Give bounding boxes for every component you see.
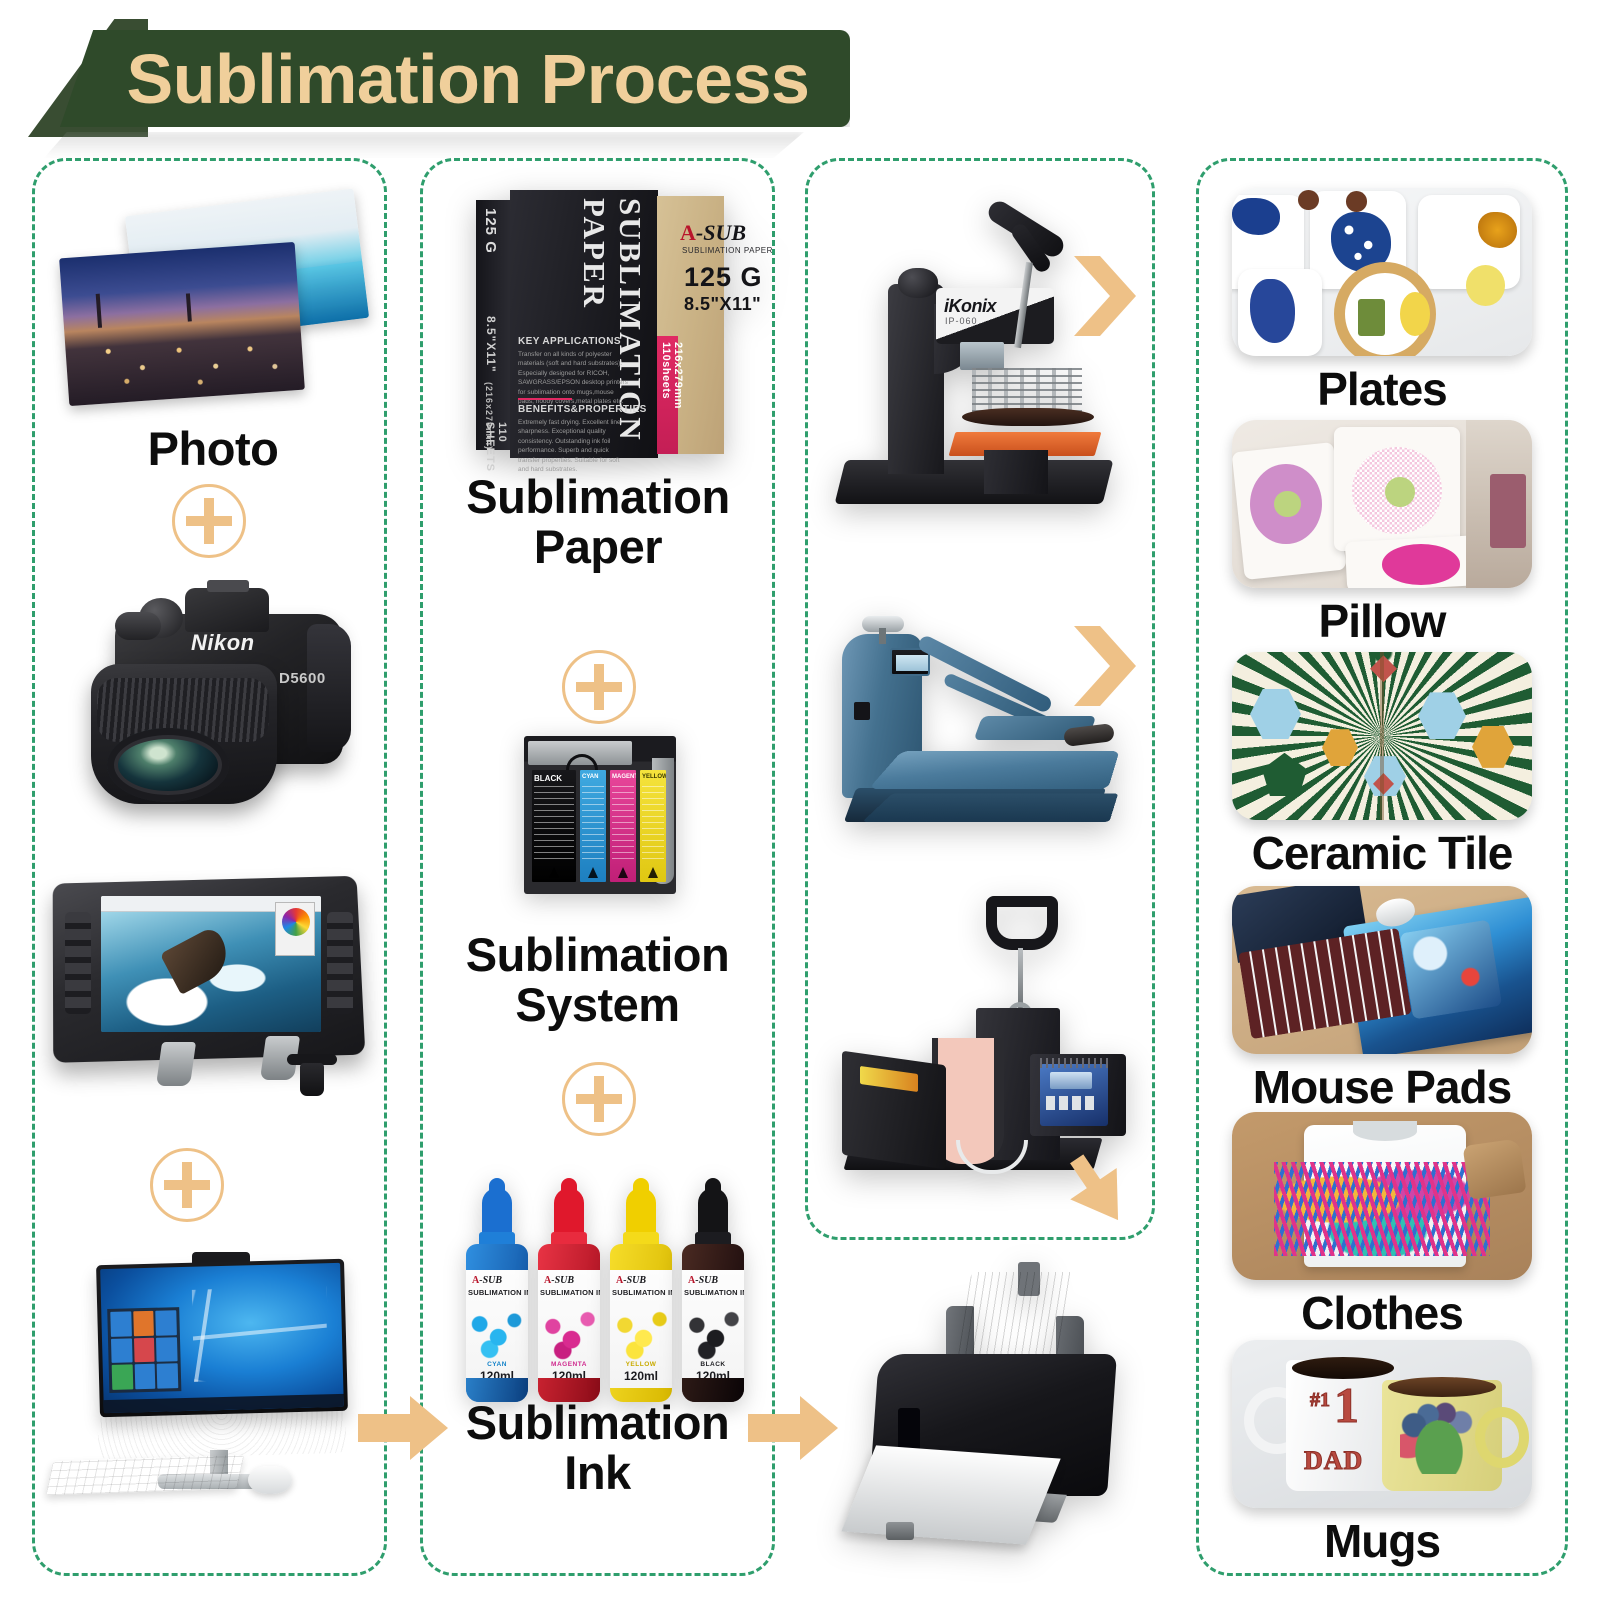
plus-icon-supplies-1 [562,650,636,724]
cartridge-magenta: MAGENTA [610,770,636,882]
paper-section2-body: Extremely fast drying. Excellent line sh… [518,418,628,475]
item-sublimation-system: BLACK CYAN MAGENTA YELLOW [520,736,680,894]
item-mug-press [834,890,1134,1186]
paper-spine-weight: 125 G [482,208,499,254]
ink-bottle-yellow: A-SUB SUBLIMATION INK YELLOW 120ml [610,1188,672,1402]
plus-icon-source-1 [172,484,246,558]
item-printer [840,1270,1140,1570]
plus-icon-supplies-2 [562,1062,636,1136]
ink-bottle-magenta: A-SUB SUBLIMATION INK MAGENTA 120ml [538,1188,600,1402]
product-plates: Plates [1208,188,1556,416]
product-mugs: #1 1 DAD Mugs [1208,1340,1556,1568]
arrow-supplies-to-printer [748,1396,838,1460]
caption-sublimation-paper: Sublimation Paper [448,472,748,572]
paper-spine-size: 8.5"X11" [484,316,498,373]
item-pen-display [44,872,374,1097]
paper-weight: 125 G [684,262,763,293]
banner-drop-shadow [44,132,804,158]
mug-dad-label: DAD [1304,1448,1363,1474]
cartridge-magenta-label: MAGENTA [612,774,636,780]
ink-magenta-color-label: MAGENTA [538,1361,600,1368]
clothes-photo [1232,1112,1532,1280]
item-photo: Photo [48,198,378,473]
product-clothes: Clothes [1208,1112,1556,1340]
ink-yellow-color-label: YELLOW [610,1361,672,1368]
product-ceramic-tile: Ceramic Tile [1208,652,1556,880]
caption-paper-line1: Sublimation [448,472,748,522]
camera-model-label: D5600 [279,670,326,687]
caption-ink-line1: Sublimation [440,1398,755,1448]
caption-plates: Plates [1317,362,1447,416]
cartridge-black: BLACK [532,770,576,882]
mug-hash-label: #1 [1310,1390,1330,1410]
paper-size: 8.5"X11" [684,294,761,315]
arrow-press-to-printer [1066,1148,1142,1222]
caption-clothes: Clothes [1301,1286,1463,1340]
pen-display-tablet-icon [51,872,367,1097]
cartridge-yellow-label: YELLOW [642,774,666,780]
paper-metric-sheets: 216x279mm 110sheets [660,342,684,458]
ink-cyan-color-label: CYAN [466,1361,528,1368]
caption-system-line1: Sublimation [440,930,755,980]
title-banner: Sublimation Process [0,14,900,139]
caption-pillow: Pillow [1319,594,1446,648]
arrow-source-to-supplies [358,1396,448,1460]
paper-spine-sheets: 110 SHEETS [484,422,508,472]
ink-black-color-label: BLACK [682,1361,744,1368]
item-camera: Nikon D5600 [56,578,366,813]
plates-photo [1232,188,1532,356]
stylus-stand-icon [287,1054,337,1096]
keyboard-icon [46,1455,245,1496]
product-mouse-pads: Mouse Pads [1208,886,1556,1114]
cartridge-black-label: BLACK [534,774,562,783]
caption-system-line2: System [440,980,755,1030]
mouse-icon [248,1466,292,1494]
mugs-photo: #1 1 DAD [1232,1340,1532,1508]
item-sublimation-paper: 125 G 8.5"X11" (216x279mm) 110 SHEETS SU… [452,186,744,572]
mug-number-one: 1 [1334,1380,1359,1430]
caption-ink-line2: Ink [440,1448,755,1498]
cartridge-cyan-label: CYAN [582,774,598,780]
caption-sublimation-system: Sublimation System [440,930,755,1030]
chevron-right-icon-press-1 [1074,256,1136,336]
paper-section1-head: KEY APPLICATIONS [518,336,621,347]
inkjet-printer-icon [840,1270,1140,1570]
photo-prints-icon [56,198,371,413]
item-computer [50,1244,370,1494]
plus-icon-source-2 [150,1148,224,1222]
caption-ceramic-tile: Ceramic Tile [1252,826,1513,880]
ink-bottle-black: A-SUB SUBLIMATION INK BLACK 120ml [682,1188,744,1402]
ink-cartridges-icon: BLACK CYAN MAGENTA YELLOW [524,736,676,894]
ink-bottles-icon: A-SUB SUBLIMATION INK CYAN 120ml A-SUB S… [460,1172,760,1402]
mug-heat-press-icon [834,890,1134,1186]
chevron-right-icon-press-2 [1074,626,1136,706]
cartridge-yellow: YELLOW [640,770,666,882]
caption-paper-line2: Paper [448,522,748,572]
caption-mugs: Mugs [1324,1514,1440,1568]
press-brand-label: iKonix [944,296,996,317]
paper-brand-logo: A-SUB [680,220,746,246]
caption-sublimation-ink: Sublimation Ink [440,1398,755,1498]
caption-photo: Photo [148,425,279,473]
all-in-one-pc-icon [50,1244,370,1494]
cityscape-print [59,242,305,406]
paper-brand-subtitle: SUBLIMATION PAPER [682,246,773,255]
cartridge-cyan: CYAN [580,770,606,882]
banner-plate: Sublimation Process [60,30,850,127]
press-model-label: IP-060 [945,316,978,326]
ceramic-tile-photo [1232,652,1532,820]
mouse-pad-photo [1232,886,1532,1054]
caption-mouse-pads: Mouse Pads [1253,1060,1511,1114]
paper-box-icon: 125 G 8.5"X11" (216x279mm) 110 SHEETS SU… [472,186,724,458]
ink-bottle-cyan: A-SUB SUBLIMATION INK CYAN 120ml [466,1188,528,1402]
dslr-camera-icon: Nikon D5600 [61,578,361,813]
page-title: Sublimation Process [101,44,810,114]
paper-section2-head: BENEFITS&PROPERTIES [518,404,647,415]
product-pillow: Pillow [1208,420,1556,648]
item-sublimation-ink: A-SUB SUBLIMATION INK CYAN 120ml A-SUB S… [460,1172,760,1402]
pillow-photo [1232,420,1532,588]
camera-brand-label: Nikon [191,630,255,656]
